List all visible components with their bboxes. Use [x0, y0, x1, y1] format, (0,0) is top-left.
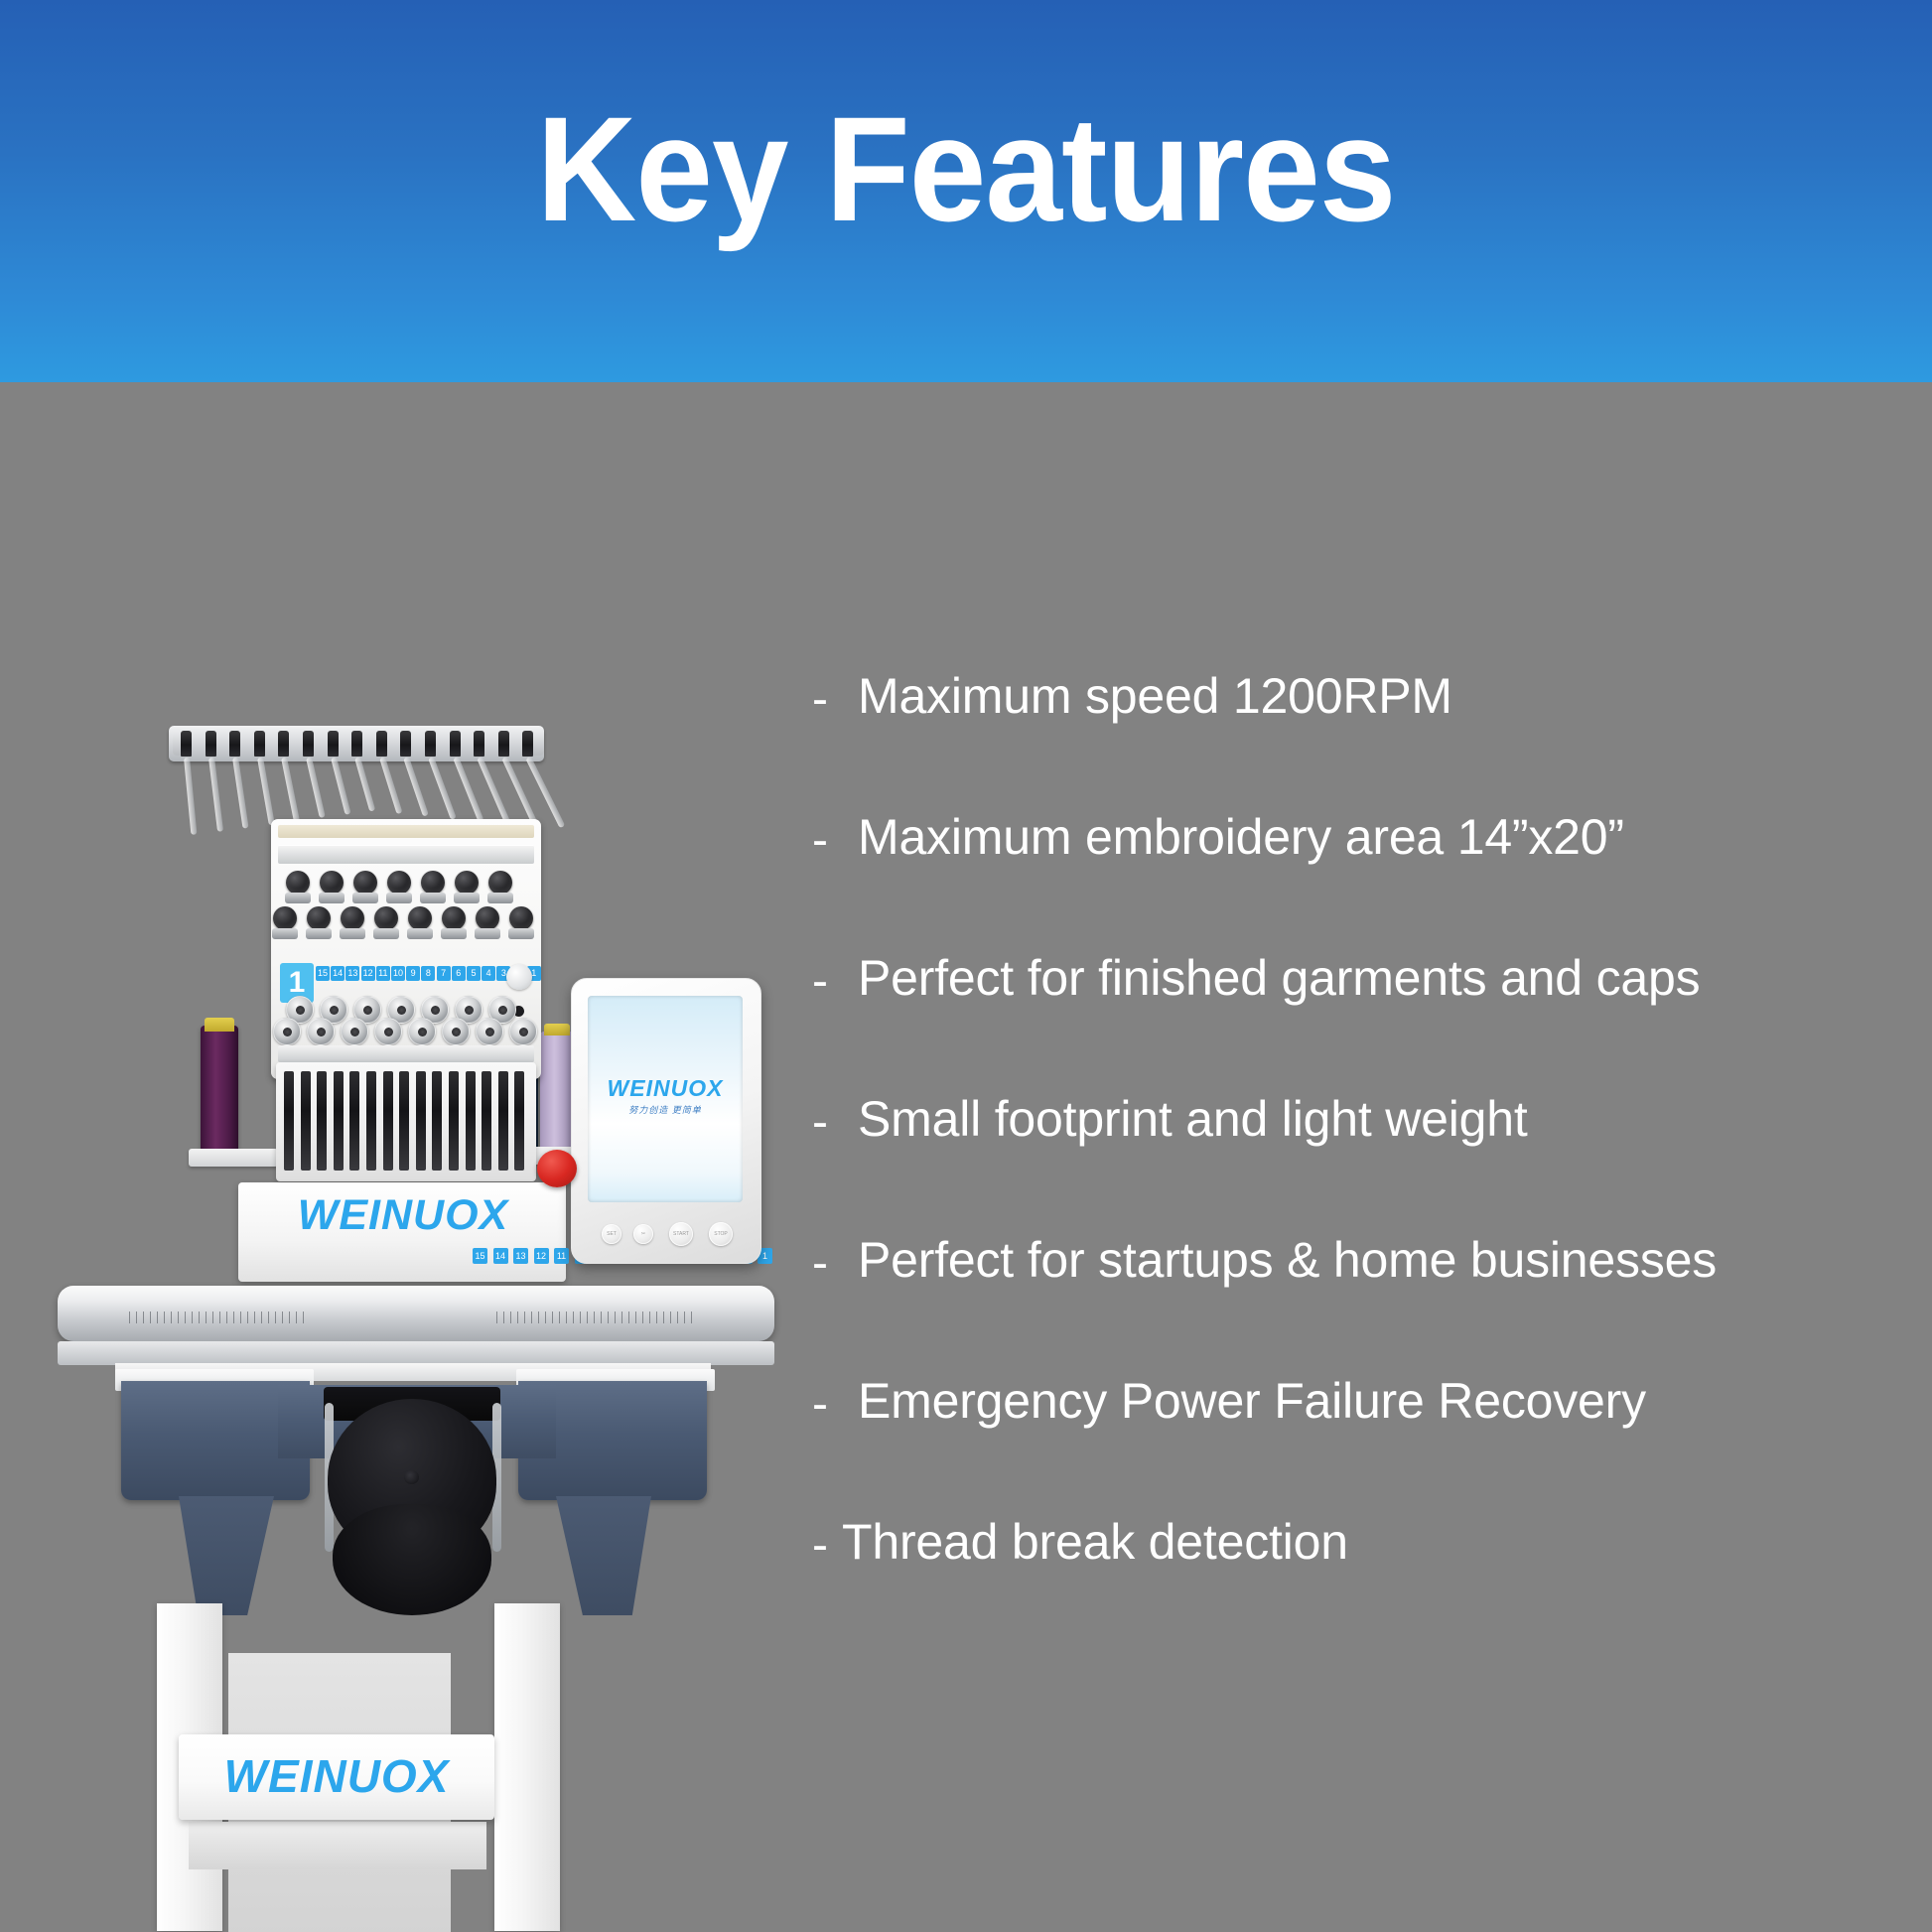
needle-number-badge: 14: [331, 966, 345, 981]
list-item: - Perfect for startups & home businesses: [812, 1234, 1914, 1288]
thread-tensioner: [341, 906, 364, 930]
needle-number-badge: 9: [406, 966, 420, 981]
thread-tensioner: [476, 906, 499, 930]
thread-guide-tube: [306, 757, 326, 818]
bullet-dash: -: [812, 670, 858, 724]
needle-number-badge: 12: [534, 1248, 549, 1264]
right-support-leg: [556, 1496, 651, 1615]
slide-root: Key Features: [0, 0, 1932, 1932]
white-round-button[interactable]: [506, 964, 532, 990]
needle-bar: [466, 1071, 476, 1171]
needle-number-badge: 5: [467, 966, 481, 981]
thread-guide-post: [450, 731, 461, 757]
thread-tensioner-base: [352, 893, 378, 903]
thread-guide-tube: [428, 757, 456, 820]
thread-cone-purple: [201, 1026, 238, 1155]
thread-tensioner: [442, 906, 466, 930]
thread-tensioner: [320, 871, 344, 895]
thread-tensioner: [387, 871, 411, 895]
needle-number-badge: 6: [452, 966, 466, 981]
thread-tension-knob: [509, 1018, 537, 1045]
bullet-dash: -: [812, 811, 858, 865]
list-item: - Thread break detection: [812, 1516, 1914, 1570]
thread-guide-post: [474, 731, 484, 757]
needle-number-badge: 14: [493, 1248, 508, 1264]
thread-guide-post: [254, 731, 265, 757]
thread-guide-tube: [257, 757, 275, 825]
thread-guide-bar-bottom: [278, 1045, 534, 1062]
thread-guide-post: [522, 731, 533, 757]
thread-tensioner-base: [508, 928, 534, 939]
x-axis-lower-rail: [58, 1341, 774, 1365]
thread-tensioner-base: [285, 893, 311, 903]
thread-tensioner-base: [420, 893, 446, 903]
needle-bar: [383, 1071, 393, 1171]
thread-guide-post: [498, 731, 509, 757]
thread-guide-post: [206, 731, 216, 757]
panel-brand-logo: WEINUOX: [588, 1075, 743, 1101]
needle-number-badge: 7: [437, 966, 451, 981]
needle-number-badge: 13: [345, 966, 359, 981]
list-item: - Perfect for finished garments and caps: [812, 952, 1914, 1006]
thread-tensioner-base: [475, 928, 500, 939]
header-banner: Key Features: [0, 0, 1932, 382]
ruler-scale-left: [129, 1311, 308, 1323]
thread-cone-cap-lavender: [544, 1024, 570, 1035]
needle-number-badge: 11: [554, 1248, 569, 1264]
panel-button-trim-icon[interactable]: ✂: [633, 1224, 653, 1244]
needle-bar: [498, 1071, 508, 1171]
stand-leg-right: [494, 1603, 560, 1931]
needle-number-badge: 8: [421, 966, 435, 981]
cap-brim: [333, 1504, 491, 1615]
needle-number-badge: 11: [376, 966, 390, 981]
thread-guide-post: [351, 731, 362, 757]
needle-number-badge: 4: [482, 966, 495, 981]
stand-upper-shelf: [189, 1822, 486, 1869]
needle-bar: [301, 1071, 311, 1171]
needle-bar: [432, 1071, 442, 1171]
thread-tensioner-base: [306, 928, 332, 939]
panel-tagline: 努力创造 更简单: [588, 1103, 743, 1116]
bullet-dash: -: [812, 952, 858, 1006]
needle-number-badge: 13: [513, 1248, 528, 1264]
thread-tensioner: [273, 906, 297, 930]
thread-guide-tube: [281, 757, 300, 821]
thread-tension-knob: [408, 1018, 436, 1045]
thread-guide-tube: [331, 757, 351, 815]
stand-brand-logo: WEINUOX: [179, 1745, 494, 1807]
thread-tensioner: [488, 871, 512, 895]
needle-bar: [416, 1071, 426, 1171]
thread-cone-cap-purple: [205, 1018, 234, 1032]
thread-tensioner: [374, 906, 398, 930]
list-item: - Emergency Power Failure Recovery: [812, 1375, 1914, 1429]
thread-tensioner-base: [407, 928, 433, 939]
thread-tensioner: [455, 871, 479, 895]
thread-tension-knob: [374, 1018, 402, 1045]
head-brand-logo: WEINUOX: [254, 1190, 552, 1240]
needle-number-badge: 15: [316, 966, 330, 981]
thread-guide-post: [328, 731, 339, 757]
feature-text: Perfect for startups & home businesses: [858, 1234, 1914, 1287]
needle-number-badge: 12: [361, 966, 375, 981]
thread-guide-tube: [379, 757, 402, 814]
panel-button-set[interactable]: SET: [602, 1224, 621, 1244]
thread-tensioner-base: [487, 893, 513, 903]
thread-guide-post: [376, 731, 387, 757]
needle-bar: [349, 1071, 359, 1171]
feature-text: Small footprint and light weight: [858, 1093, 1914, 1146]
feature-text: Thread break detection: [842, 1516, 1914, 1569]
needle-bar: [284, 1071, 294, 1171]
thread-tension-knob: [273, 1018, 301, 1045]
thread-guide-tube: [404, 757, 430, 817]
thread-tensioner-base: [386, 893, 412, 903]
thread-tensioner-base: [373, 928, 399, 939]
thread-tension-knob: [442, 1018, 470, 1045]
thread-guide-post: [425, 731, 436, 757]
needle-number-badge: 10: [391, 966, 405, 981]
thread-tensioner: [353, 871, 377, 895]
list-item: - Small footprint and light weight: [812, 1093, 1914, 1147]
thread-guide-post: [181, 731, 192, 757]
thread-tensioner: [307, 906, 331, 930]
thread-guide-tube: [232, 758, 249, 829]
bullet-dash: -: [812, 1234, 858, 1288]
needle-number-badges-bottom: 151413121110987654321: [250, 1248, 554, 1264]
thread-guide-tube: [208, 758, 223, 832]
bullet-dash: -: [812, 1093, 858, 1147]
left-support-leg: [179, 1496, 274, 1615]
panel-button-stop[interactable]: STOP: [709, 1222, 733, 1246]
thread-tension-knob: [341, 1018, 368, 1045]
bullet-dash: -: [812, 1516, 842, 1570]
feature-text: Maximum speed 1200RPM: [858, 670, 1914, 723]
needle-bar: [317, 1071, 327, 1171]
page-title: Key Features: [68, 83, 1864, 255]
content-area: 1 151413121110987654321 WEINUOX 15141312…: [0, 382, 1932, 1932]
thread-guide-post: [229, 731, 240, 757]
needle-bar: [334, 1071, 344, 1171]
needle-bar: [449, 1071, 459, 1171]
thread-guide-post: [303, 731, 314, 757]
feature-text: Perfect for finished garments and caps: [858, 952, 1914, 1005]
needle-bar: [514, 1071, 524, 1171]
thread-guide-post: [400, 731, 411, 757]
thread-tensioner: [421, 871, 445, 895]
thread-guide-tube: [184, 758, 197, 836]
embroidery-machine-image: 1 151413121110987654321 WEINUOX 15141312…: [30, 362, 784, 1931]
thread-tension-knob: [476, 1018, 503, 1045]
emergency-stop-button[interactable]: [537, 1150, 577, 1187]
list-item: - Maximum embroidery area 14”x20”: [812, 811, 1914, 865]
needle-bar: [482, 1071, 491, 1171]
needle-bar: [366, 1071, 376, 1171]
thread-guide-tube: [354, 757, 375, 812]
thread-tensioner: [408, 906, 432, 930]
list-item: - Maximum speed 1200RPM: [812, 670, 1914, 724]
thread-tensioner: [509, 906, 533, 930]
thread-guide-tube: [453, 757, 483, 822]
cap-top-button: [404, 1470, 419, 1484]
thread-tensioner-base: [319, 893, 345, 903]
thread-guide-post: [278, 731, 289, 757]
thread-tray-left: [189, 1149, 278, 1167]
thread-tensioner-base: [454, 893, 480, 903]
feature-text: Emergency Power Failure Recovery: [858, 1375, 1914, 1428]
ruler-scale-right: [496, 1311, 695, 1323]
thread-cone-lavender: [540, 1032, 574, 1153]
bullet-dash: -: [812, 1375, 858, 1429]
feature-text: Maximum embroidery area 14”x20”: [858, 811, 1914, 864]
needle-case-beam: [278, 825, 534, 838]
panel-button-start[interactable]: START: [669, 1222, 693, 1246]
thread-tensioner: [286, 871, 310, 895]
thread-tensioner-base: [272, 928, 298, 939]
needle-number-badge: 15: [473, 1248, 487, 1264]
thread-tension-knob: [307, 1018, 335, 1045]
thread-tensioner-base: [340, 928, 365, 939]
feature-list: - Maximum speed 1200RPM - Maximum embroi…: [812, 670, 1914, 1570]
thread-guide-bar-top: [278, 845, 534, 864]
thread-tensioner-base: [441, 928, 467, 939]
needle-bar: [399, 1071, 409, 1171]
